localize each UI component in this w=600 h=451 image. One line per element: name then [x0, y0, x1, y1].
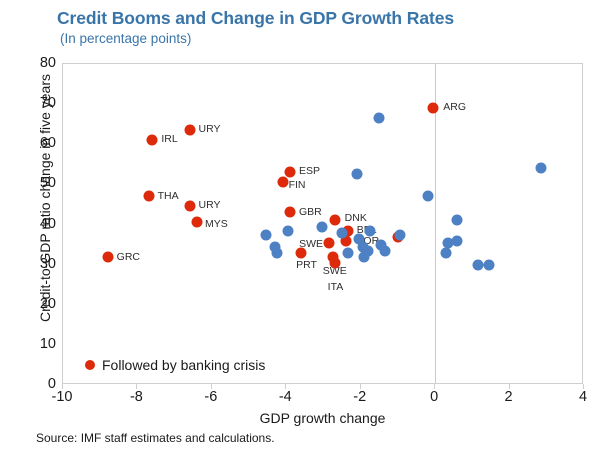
plot-area: GRCTHAIRLURYURYMYSESPFINGBRPRTDNKBELNORS… — [62, 63, 583, 384]
legend-swatch-crisis — [85, 360, 95, 370]
data-point — [428, 103, 439, 114]
data-point-label: SWE — [299, 238, 323, 250]
x-axis-label: GDP growth change — [62, 410, 583, 426]
data-point — [285, 207, 296, 218]
data-point — [147, 135, 158, 146]
x-tick-mark — [62, 384, 63, 389]
data-point — [365, 225, 376, 236]
data-point — [143, 191, 154, 202]
chart-legend: Followed by banking crisis — [85, 357, 265, 373]
x-tick-mark — [360, 384, 361, 389]
data-point — [374, 113, 385, 124]
y-tick-label: 10 — [0, 336, 56, 352]
y-tick-label: 40 — [0, 216, 56, 232]
data-point — [452, 215, 463, 226]
x-tick-mark — [285, 384, 286, 389]
data-point-label: URY — [199, 123, 221, 135]
data-point — [351, 169, 362, 180]
data-point — [452, 235, 463, 246]
data-point-label: GBR — [299, 206, 322, 218]
data-point — [283, 225, 294, 236]
data-point-label: GRC — [117, 251, 140, 263]
x-tick-mark — [434, 384, 435, 389]
data-point — [271, 247, 282, 258]
data-point — [184, 201, 195, 212]
data-point — [337, 227, 348, 238]
y-tick-label: 70 — [0, 95, 56, 111]
x-tick-label: 2 — [489, 389, 529, 405]
data-point — [277, 177, 288, 188]
data-point — [324, 237, 335, 248]
chart-subtitle: (In percentage points) — [60, 31, 191, 46]
source-note: Source: IMF staff estimates and calculat… — [36, 431, 275, 445]
data-point-label: THA — [158, 190, 179, 202]
data-point-label: ESP — [299, 165, 320, 177]
data-point — [316, 221, 327, 232]
data-point-label: PRT — [296, 259, 317, 271]
page-title: Credit Booms and Change in GDP Growth Ra… — [57, 8, 454, 29]
x-tick-mark — [583, 384, 584, 389]
y-tick-label: 20 — [0, 296, 56, 312]
data-point-label: ITA — [328, 281, 344, 293]
chart-figure: Credit Booms and Change in GDP Growth Ra… — [0, 0, 600, 451]
data-point — [422, 191, 433, 202]
data-point — [184, 125, 195, 136]
data-point — [342, 247, 353, 258]
x-tick-mark — [509, 384, 510, 389]
x-tick-mark — [136, 384, 137, 389]
data-point-label: ARG — [443, 101, 466, 113]
data-point — [191, 217, 202, 228]
data-point — [536, 163, 547, 174]
data-point — [329, 215, 340, 226]
x-tick-label: -8 — [116, 389, 156, 405]
data-point — [329, 257, 340, 268]
data-point — [394, 229, 405, 240]
x-tick-label: -10 — [42, 389, 82, 405]
data-point — [285, 167, 296, 178]
data-point — [441, 247, 452, 258]
y-tick-label: 80 — [0, 55, 56, 71]
data-point — [363, 245, 374, 256]
data-point-label: URY — [199, 199, 221, 211]
data-point — [472, 259, 483, 270]
x-tick-label: -4 — [265, 389, 305, 405]
data-point — [379, 245, 390, 256]
y-tick-label: 30 — [0, 256, 56, 272]
legend-label-crisis: Followed by banking crisis — [102, 357, 265, 373]
data-point-label: FIN — [289, 179, 306, 191]
data-point-label: MYS — [205, 218, 228, 230]
y-tick-label: 60 — [0, 135, 56, 151]
y-tick-label: 50 — [0, 175, 56, 191]
x-tick-mark — [211, 384, 212, 389]
data-point-label: IRL — [161, 133, 177, 145]
x-tick-label: -6 — [191, 389, 231, 405]
data-point — [260, 229, 271, 240]
data-point — [484, 259, 495, 270]
x-tick-label: 0 — [414, 389, 454, 405]
data-point — [102, 251, 113, 262]
x-tick-label: -2 — [340, 389, 380, 405]
x-tick-label: 4 — [563, 389, 600, 405]
